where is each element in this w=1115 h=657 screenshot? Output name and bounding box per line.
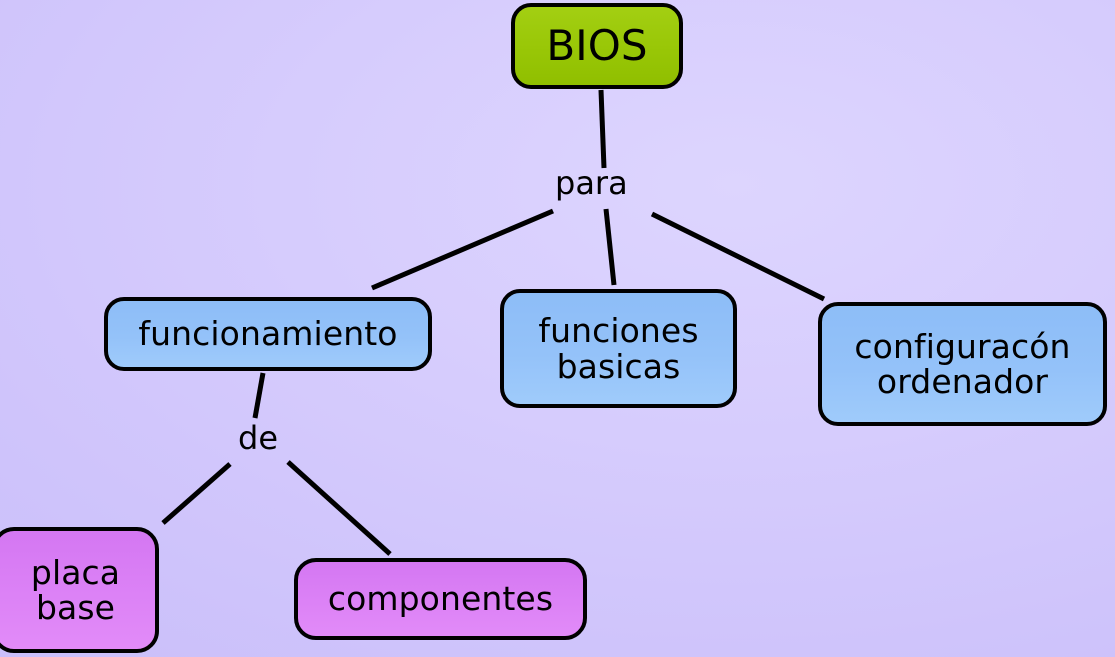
edge-de-to-componentes: [288, 462, 390, 554]
edge-para-to-configuracion-ordenador: [652, 214, 824, 299]
edge-label-de-text: de: [238, 419, 278, 457]
edge-label-para: para: [555, 167, 628, 199]
node-configuracion-ordenador[interactable]: configuracón ordenador: [818, 302, 1107, 426]
node-bios-label: BIOS: [546, 24, 647, 69]
node-funcionamiento[interactable]: funcionamiento: [104, 297, 432, 371]
edge-label-de: de: [238, 422, 278, 454]
concept-map-canvas: BIOS funcionamiento funciones basicas co…: [0, 0, 1115, 657]
edge-funcionamiento-to-de: [255, 373, 263, 418]
edge-de-to-placa-base: [163, 464, 230, 523]
node-placa-base[interactable]: placa base: [0, 527, 159, 653]
node-componentes-label: componentes: [328, 581, 553, 616]
node-funciones-basicas-label: funciones basicas: [538, 313, 698, 384]
node-placa-base-label: placa base: [31, 555, 120, 626]
node-configuracion-ordenador-label: configuracón ordenador: [854, 329, 1070, 400]
edge-bios-to-para: [601, 90, 604, 168]
node-componentes[interactable]: componentes: [294, 558, 587, 640]
node-bios[interactable]: BIOS: [511, 3, 683, 89]
edge-label-para-text: para: [555, 164, 628, 202]
node-funcionamiento-label: funcionamiento: [138, 316, 397, 351]
edge-para-to-funcionamiento: [372, 211, 553, 288]
edge-para-to-funciones-basicas: [606, 209, 614, 285]
node-funciones-basicas[interactable]: funciones basicas: [500, 289, 737, 408]
